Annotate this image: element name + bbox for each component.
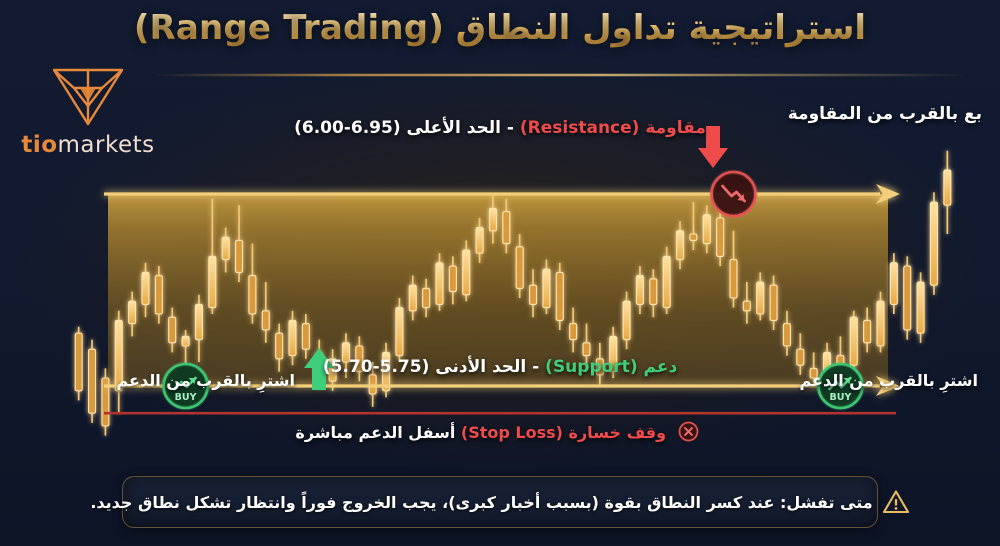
title-bar: استراتيجية تداول النطاق (Range Trading) [0, 8, 1000, 48]
x-circle-icon [678, 421, 699, 446]
infographic-poster: استراتيجية تداول النطاق (Range Trading) … [0, 0, 1000, 546]
candle [917, 272, 924, 342]
page-title: استراتيجية تداول النطاق (Range Trading) [128, 8, 872, 48]
stop-loss-label: وقف خسارة (Stop Loss) أسفل الدعم مباشرة [0, 421, 1000, 446]
sell-badge[interactable] [712, 172, 756, 216]
buy-near-support-label-left: اشترِ بالقرب من الدعم [117, 371, 296, 390]
candle [396, 298, 403, 362]
candlestick-chart: BUY BUY [0, 120, 1000, 450]
stop-loss-keyword: وقف خسارة (Stop Loss) [461, 423, 666, 442]
buy-badge-text: BUY [829, 392, 851, 403]
sell-near-resistance-label: بع بالقرب من المقاومة [788, 104, 982, 124]
support-keyword: دعم (Support) [545, 357, 677, 377]
candle [944, 151, 951, 234]
warning-banner: متى تفشل: عند كسر النطاق بقوة (بسبب أخبا… [122, 476, 878, 528]
warning-triangle-icon [882, 489, 910, 515]
buy-near-support-label-right: اشترِ بالقرب من الدعم [800, 371, 979, 390]
candle [904, 256, 911, 339]
candle [89, 340, 96, 423]
warning-banner-text: متى تفشل: عند كسر النطاق بقوة (بسبب أخبا… [90, 493, 872, 512]
chart-svg: BUY BUY [0, 120, 1000, 450]
support-range: - الحد الأدنى (5.75-5.70) [323, 357, 539, 377]
resistance-keyword: مقاومة (Resistance) [520, 118, 706, 138]
title-divider [150, 74, 970, 76]
candle [930, 192, 937, 294]
candle [663, 247, 670, 314]
candle [463, 240, 470, 301]
candle [890, 253, 897, 314]
candle [556, 263, 563, 330]
resistance-range: - الحد الأعلى (6.95-6.00) [294, 118, 514, 138]
candle [877, 292, 884, 353]
buy-badge-text: BUY [175, 392, 197, 403]
stop-loss-rest: أسفل الدعم مباشرة [295, 423, 455, 442]
